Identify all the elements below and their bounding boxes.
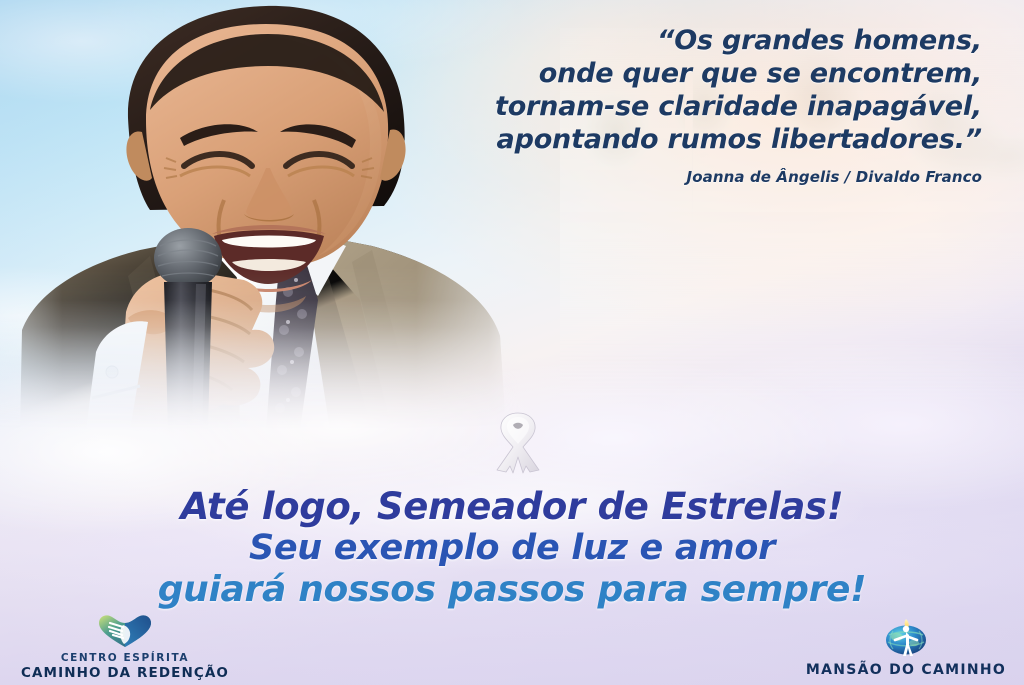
quote-line-3: tornam-se claridade inapagável, [382,90,982,123]
figure-head [776,345,798,369]
white-awareness-ribbon-icon [487,410,549,476]
ghost-photo-wall [560,215,1024,265]
tribute-line-1: Até logo, Semeador de Estrelas! [0,486,1024,528]
ghost-photo-ground [560,265,1024,410]
quote-block: “Os grandes homens, onde quer que se enc… [382,24,982,186]
quote-line-1: “Os grandes homens, [382,24,982,57]
logo-centro-espirita-caminho-da-redencao: CENTRO ESPÍRITA CAMINHO DA REDENÇÃO [10,614,240,681]
figure-head [684,345,706,369]
globe-figure-flame-icon [796,618,1016,660]
logo-mansao-do-caminho: MANSÃO DO CAMINHO [796,618,1016,679]
quote-attribution: Joanna de Ângelis / Divaldo Franco [382,168,982,186]
tribute-poster: “Os grandes homens, onde quer que se enc… [0,0,1024,685]
figure-legs [671,417,719,489]
logo-left-line-2: CAMINHO DA REDENÇÃO [10,665,240,681]
figure-legs [763,417,811,489]
tribute-message: Até logo, Semeador de Estrelas! Seu exem… [0,486,1024,611]
quote-line-2: onde quer que se encontrem, [382,57,982,90]
figure-torso [665,365,725,419]
tribute-line-2: Seu exemplo de luz e amor [0,528,1024,569]
quote-line-4: apontando rumos libertadores.” [382,123,982,156]
logo-right-line-1: MANSÃO DO CAMINHO [796,662,1016,679]
tribute-line-3: guiará nossos passos para sempre! [0,569,1024,611]
heart-hands-icon [10,614,240,652]
logo-left-line-1: CENTRO ESPÍRITA [10,652,240,665]
ghost-photo-gate [843,219,954,261]
figure-torso [757,365,817,419]
